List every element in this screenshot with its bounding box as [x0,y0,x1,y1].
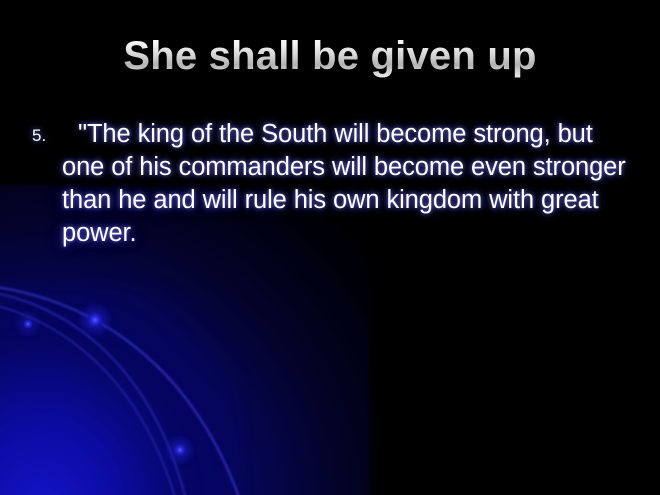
dot-large-upper [88,313,103,328]
slide-canvas: She shall be given up 5. "The king of th… [0,0,660,495]
corner-glow-inner [0,285,240,495]
slide-body: 5. "The king of the South will become st… [32,118,632,250]
dot-small-left [24,320,33,329]
verse-number: 5. [32,118,62,144]
arc-inner [0,304,176,495]
arc-outer [0,286,240,495]
dot-lower [174,444,186,456]
verse-text: "The king of the South will become stron… [62,118,632,250]
orbit-dots [19,307,191,461]
arc-middle [0,292,186,495]
slide-title: She shall be given up [0,34,660,78]
